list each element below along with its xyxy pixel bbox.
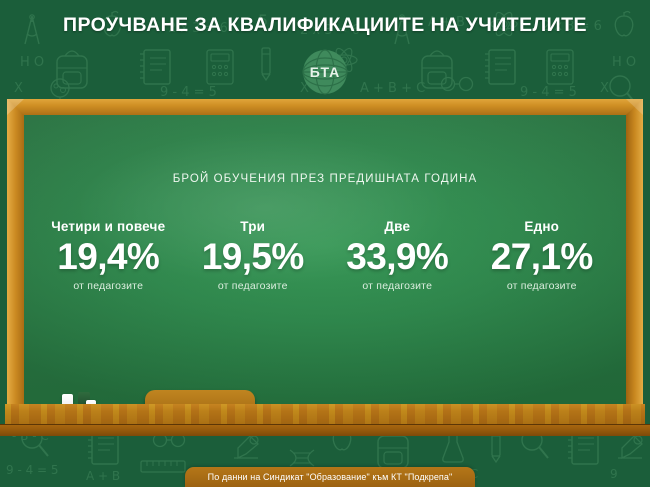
stat-item: Четири и повече 19,4% от педагозите [36,219,181,292]
frame-top-rail [7,99,643,115]
stat-sublabel: от педагозите [36,280,181,292]
stat-value: 33,9% [325,236,470,277]
source-text: По данни на Синдикат "Образование" към К… [208,472,453,482]
stat-item: Едно 27,1% от педагозите [470,219,615,292]
ledge-front-lip [0,424,650,436]
board-surface: БРОЙ ОБУЧЕНИЯ ПРЕЗ ПРЕДИШНАТА ГОДИНА Чет… [24,115,626,405]
stat-value: 27,1% [470,236,615,277]
frame-left-rail [7,99,24,421]
stat-item: Две 33,9% от педагозите [325,219,470,292]
svg-text:БТА: БТА [310,64,341,80]
source-banner: По данни на Синдикат "Образование" към К… [185,467,475,487]
chart-subtitle: БРОЙ ОБУЧЕНИЯ ПРЕЗ ПРЕДИШНАТА ГОДИНА [24,173,626,185]
stat-label: Две [325,219,470,234]
chalk-ledge [0,404,650,438]
frame-right-rail [626,99,643,421]
stat-value: 19,5% [181,236,326,277]
stat-label: Едно [470,219,615,234]
stat-label: Четири и повече [36,219,181,234]
stat-value: 19,4% [36,236,181,277]
page-title: ПРОУЧВАНЕ ЗА КВАЛИФИКАЦИИТЕ НА УЧИТЕЛИТЕ [0,14,650,37]
stat-sublabel: от педагозите [181,280,326,292]
blackboard: БРОЙ ОБУЧЕНИЯ ПРЕЗ ПРЕДИШНАТА ГОДИНА Чет… [7,99,643,421]
header: ПРОУЧВАНЕ ЗА КВАЛИФИКАЦИИТЕ НА УЧИТЕЛИТЕ… [0,0,650,100]
bta-globe-logo: БТА [295,48,355,96]
stat-sublabel: от педагозите [470,280,615,292]
svg-text:9: 9 [610,467,618,481]
stat-sublabel: от педагозите [325,280,470,292]
stat-label: Три [181,219,326,234]
stats-row: Четири и повече 19,4% от педагозите Три … [36,219,614,292]
svg-text:9 - 4 = 5: 9 - 4 = 5 [6,463,59,477]
svg-text:A + B: A + B [86,469,120,483]
ledge-top-surface [5,404,645,424]
ledge-wood-grain [5,404,645,424]
stat-item: Три 19,5% от педагозите [181,219,326,292]
